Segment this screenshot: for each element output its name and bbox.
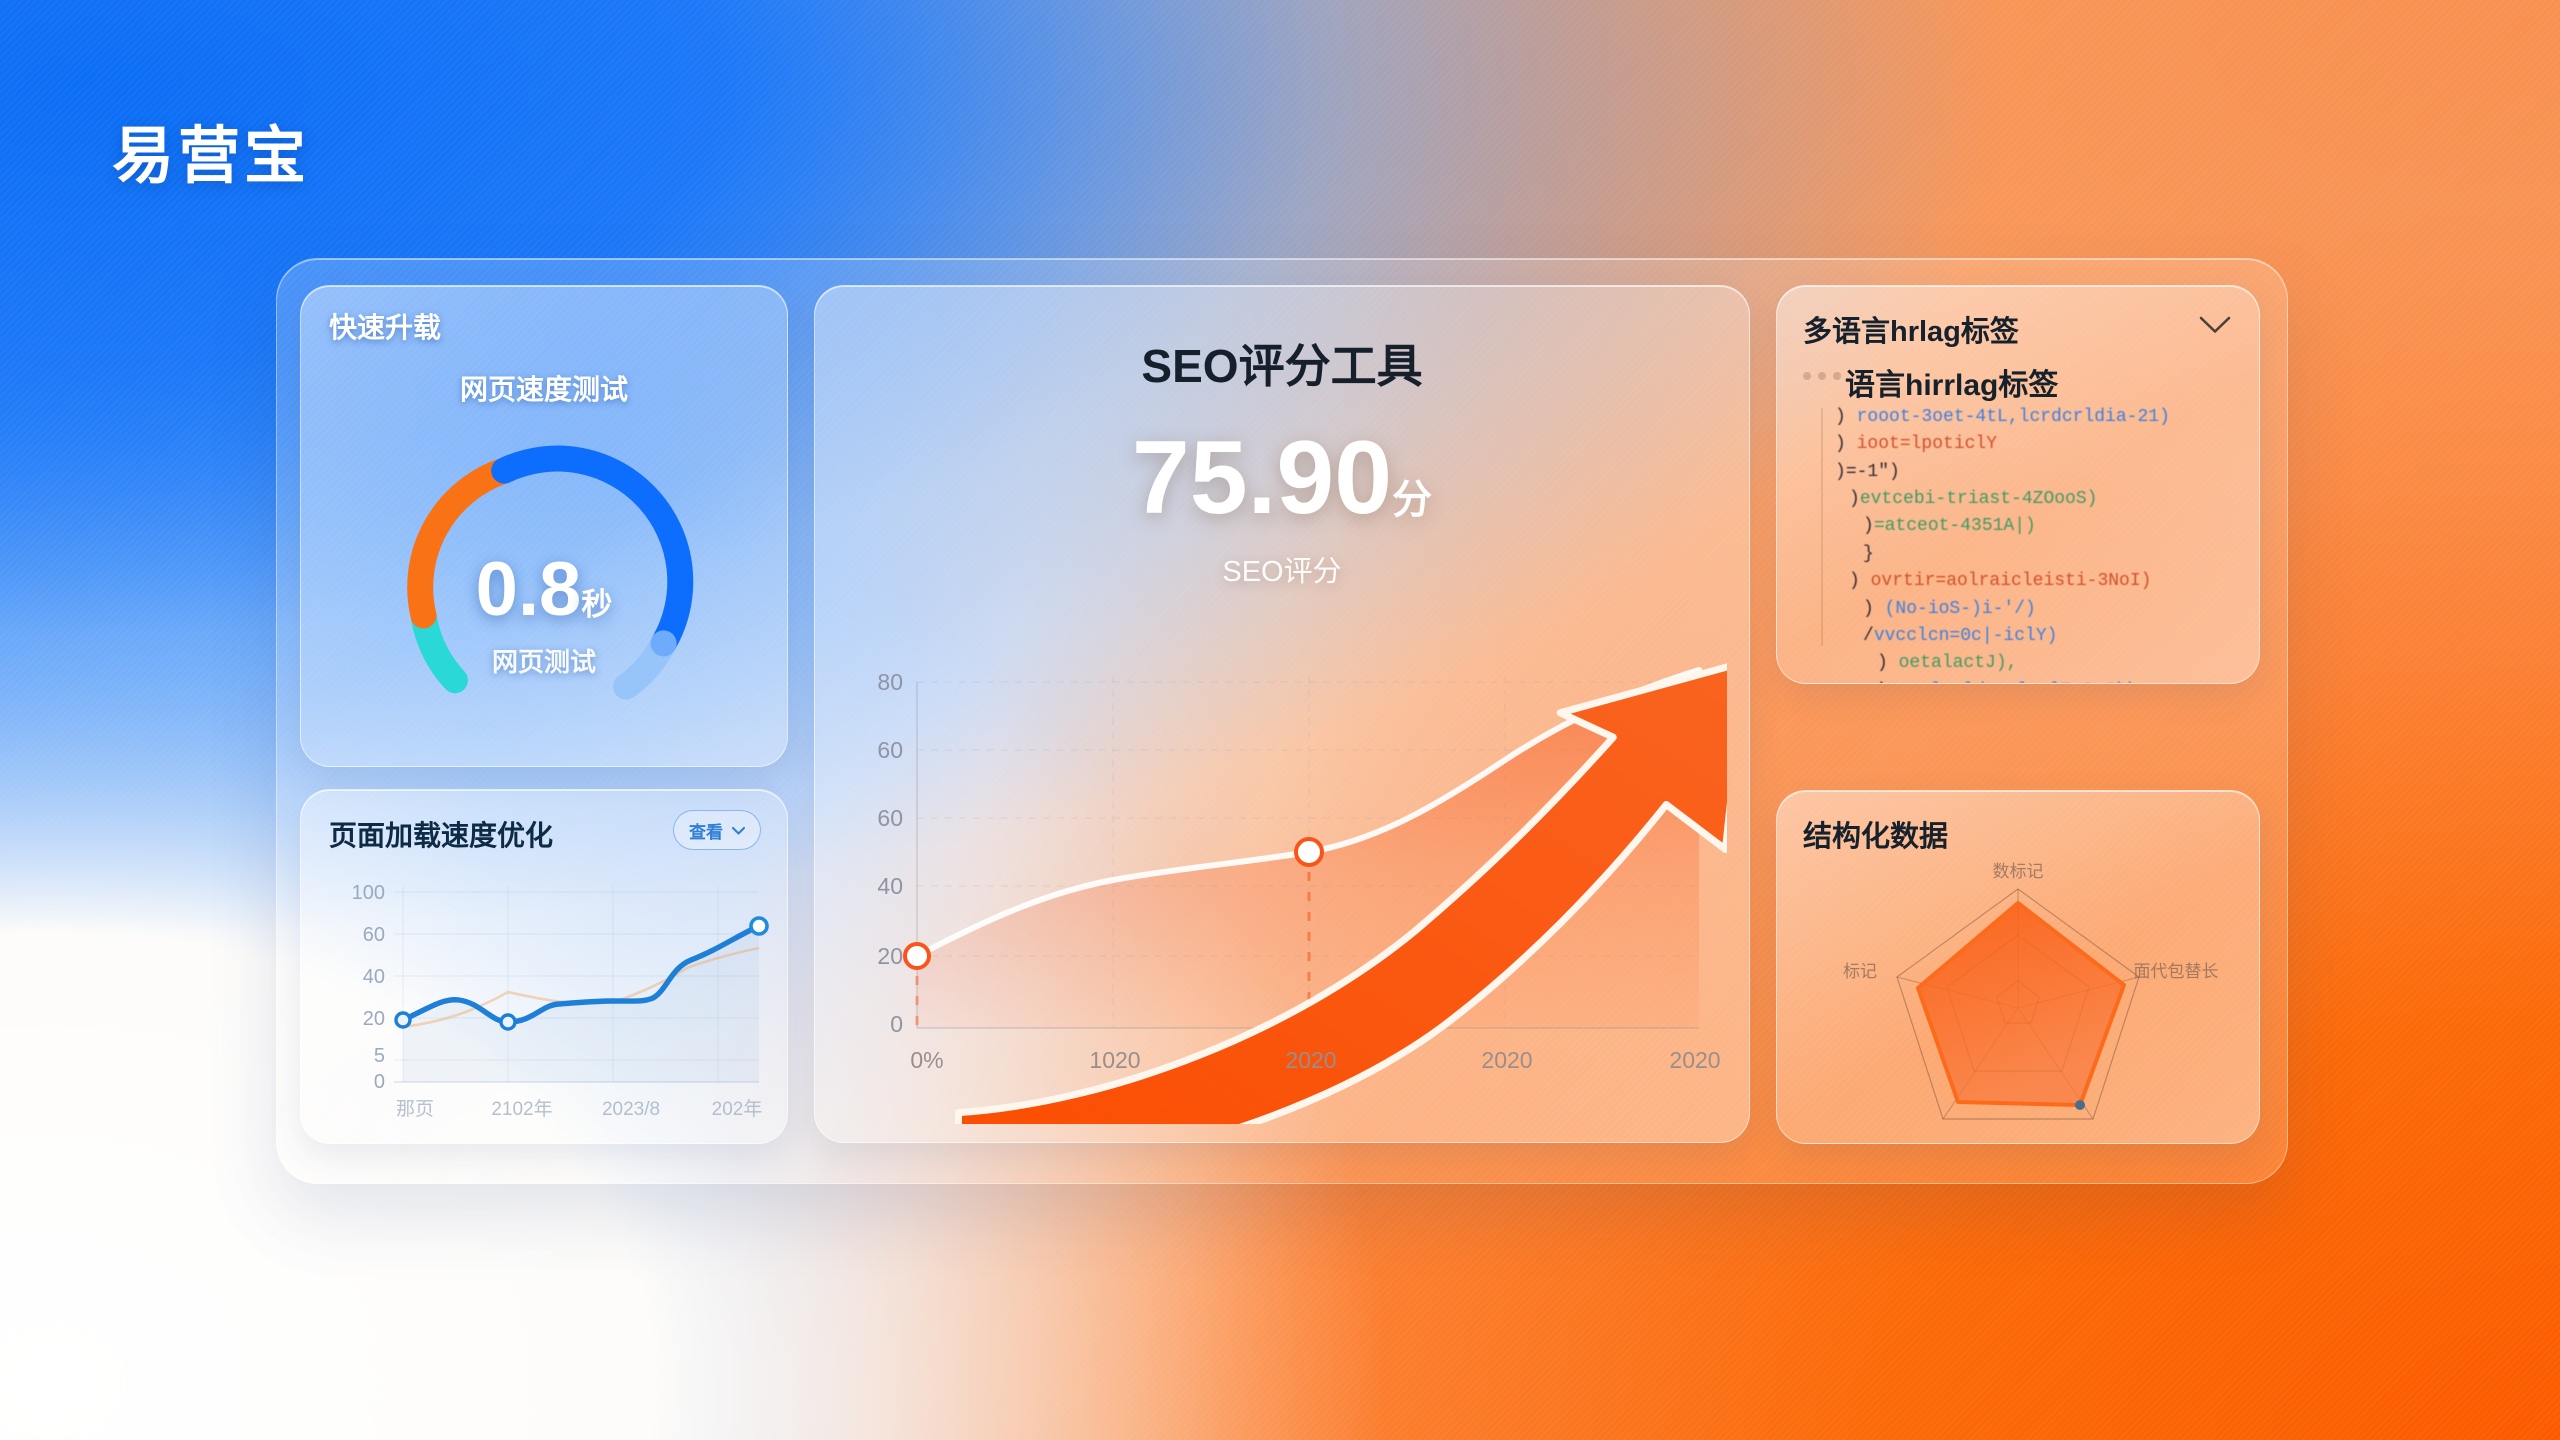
code-line-7: ) (No-ioS-)i-'/) (1835, 596, 2241, 623)
hreflang-tags-card: 多语言hrlag标签 语言hirrlag标签 ) rooot-3oet-4tL,… (1776, 285, 2260, 684)
code-line-5: } (1835, 541, 2241, 568)
svg-text:20: 20 (363, 1008, 385, 1030)
code-line-6: ) ovrtir=aolraicleisti-3NoI) (1835, 568, 2241, 595)
svg-text:60: 60 (363, 924, 385, 946)
code-line-4: )=atceot-4351A|) (1835, 513, 2241, 540)
code-line-1: ) ioot=lpoticlY (1835, 431, 2241, 458)
seo-score-card: SEO评分工具 75.90分 SEO评分 (814, 285, 1750, 1143)
svg-text:202年: 202年 (712, 1098, 763, 1120)
svg-text:40: 40 (363, 966, 385, 988)
seo-score-caption: SEO评分 (815, 548, 1749, 590)
svg-text:0: 0 (374, 1071, 385, 1093)
speed-gauge-chart: 0.8秒 网页测试 (394, 434, 694, 734)
radar-axis-label-0: 数标记 (1993, 862, 2044, 881)
seo-score-number: 75.90 (1132, 420, 1392, 536)
hreflang-card-title: 多语言hrlag标签 (1803, 308, 2019, 350)
code-token: ) (1877, 681, 1888, 684)
hreflang-code-rail (1821, 408, 1823, 646)
code-token: ) (1835, 434, 1846, 454)
svg-text:0: 0 (890, 1011, 903, 1037)
seo-card-title: SEO评分工具 (815, 330, 1749, 396)
code-token: (No-ioS-)i-'/) (1874, 599, 2036, 619)
code-token: ) (1863, 599, 1874, 619)
gauge-value-unit: 秒 (581, 587, 612, 622)
svg-text:2020: 2020 (1285, 1047, 1336, 1073)
code-token: ovrtir=aolraicleisti-3NoI) (1860, 571, 2152, 591)
svg-text:2020: 2020 (1481, 1047, 1532, 1073)
code-line-0: ) rooot-3oet-4tL,lcrdcrldia-21) (1835, 404, 2241, 431)
gauge-value: 0.8秒 (394, 552, 694, 628)
code-token: ) (1877, 653, 1888, 673)
gauge-value-number: 0.8 (476, 547, 582, 632)
hreflang-code-block: ) rooot-3oet-4tL,lcrdcrldia-21)) ioot=lp… (1835, 404, 2241, 684)
code-line-9: ) oetalactJ), (1835, 650, 2241, 677)
hreflang-bullet-dots (1803, 372, 1841, 380)
code-token: ) (1863, 516, 1874, 536)
seo-trend-chart: 80 60 60 40 20 0 0% 1020 2020 (839, 656, 1727, 1124)
code-token: } (1863, 544, 1874, 564)
gauge-card-title: 快速升载 (329, 306, 441, 346)
page-load-line-chart: 100 60 40 20 5 0 那页 2102年 2023/8 202年 (319, 872, 771, 1127)
svg-text:40: 40 (877, 873, 903, 899)
radar-axis-label-1: 面代包替长 (2134, 962, 2219, 981)
code-line-8: /vvcclcn=0c|-iclY) (1835, 623, 2241, 650)
line-filter-label: 查看 (689, 818, 723, 843)
svg-text:0%: 0% (910, 1047, 943, 1073)
code-token: vcoqlerldttzlc-lZ-SaJ)) (1888, 681, 2136, 684)
app-brand-title: 易营宝 (112, 105, 310, 195)
radar-card-title: 结构化数据 (1803, 813, 1948, 855)
svg-text:2102年: 2102年 (491, 1098, 552, 1120)
line-chart-filter-dropdown[interactable]: 查看 (673, 810, 761, 850)
svg-text:2023/8: 2023/8 (602, 1099, 660, 1120)
code-token: rooot-3oet-4tL,lcrdcrldia-21) (1846, 407, 2170, 427)
code-token: ) (1835, 462, 1846, 482)
hreflang-card-subtitle: 语言hirrlag标签 (1845, 360, 2058, 404)
code-token: ) (1835, 407, 1846, 427)
code-line-3: )evtcebi-triast-4ZOooS) (1835, 486, 2241, 513)
structured-data-radar-chart: 数标记 面代包替长 标记 转文优化 标记 (1808, 855, 2228, 1127)
svg-text:2020: 2020 (1669, 1047, 1720, 1073)
web-speed-gauge-card: 快速升载 网页速度测试 0.8秒 网页测试 (300, 285, 788, 767)
svg-text:100: 100 (352, 882, 385, 904)
seo-score-unit: 分 (1392, 478, 1432, 522)
chevron-down-icon[interactable] (2199, 316, 2231, 340)
code-token: ) (1849, 489, 1860, 509)
code-token: =-1") (1846, 462, 1900, 482)
gauge-card-subtitle: 网页速度测试 (301, 368, 787, 408)
svg-text:60: 60 (877, 737, 903, 763)
svg-text:5: 5 (374, 1045, 385, 1067)
line-card-title: 页面加载速度优化 (329, 814, 553, 854)
code-token: evtcebi-triast-4ZOooS) (1860, 489, 2098, 509)
code-line-2: )=-1") (1835, 459, 2241, 486)
radar-series-polygon (1918, 903, 2124, 1105)
svg-text:80: 80 (877, 669, 903, 695)
code-token: ) (1849, 571, 1860, 591)
gauge-caption: 网页测试 (394, 642, 694, 679)
code-line-10: )vcoqlerldttzlc-lZ-SaJ)) (1835, 678, 2241, 684)
code-token: =atceot-4351A|) (1874, 516, 2036, 536)
svg-text:那页: 那页 (396, 1099, 434, 1120)
structured-data-card: 结构化数据 数标记 (1776, 790, 2260, 1144)
code-token: ioot=lpoticlY (1846, 434, 1997, 454)
radar-data-point (2075, 1100, 2085, 1110)
page-load-optimization-card: 页面加载速度优化 查看 100 60 (300, 789, 788, 1144)
svg-text:60: 60 (877, 805, 903, 831)
seo-score-value: 75.90分 (815, 426, 1749, 530)
svg-text:20: 20 (877, 943, 903, 969)
radar-axis-label-4: 标记 (1843, 962, 1877, 981)
chevron-down-icon (732, 820, 745, 840)
svg-text:1020: 1020 (1089, 1047, 1140, 1073)
code-token: / (1863, 626, 1874, 646)
code-token: vvcclcn=0c|-iclY) (1874, 626, 2058, 646)
code-token: oetalactJ), (1888, 653, 2018, 673)
